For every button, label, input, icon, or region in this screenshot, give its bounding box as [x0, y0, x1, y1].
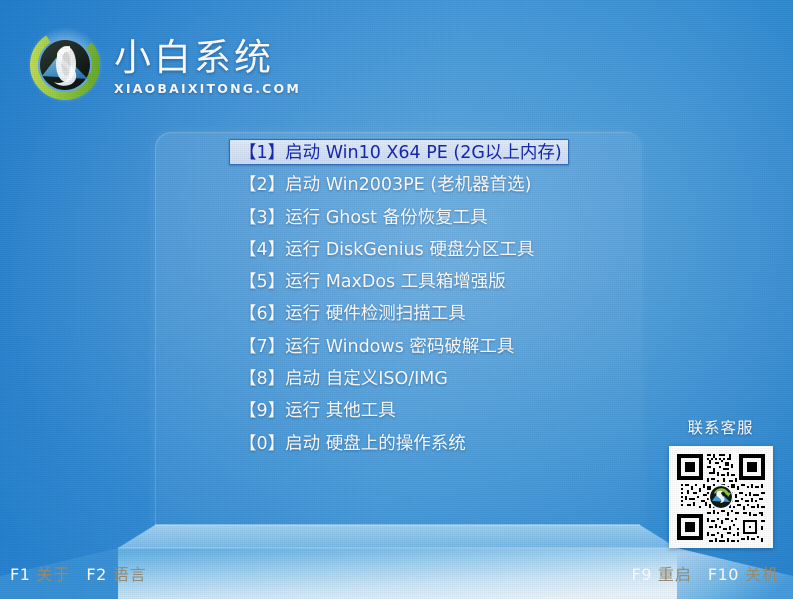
brand-name-en: XIAOBAIXITONG.COM — [114, 81, 301, 96]
brand-name-cn: 小白系统 — [114, 37, 301, 79]
contact-support-block: 联系客服 — [663, 418, 778, 548]
hotkeys-left: F1关于F2语言 — [10, 565, 147, 585]
hotkey-f10-label[interactable]: 关机 — [745, 565, 779, 584]
hotkey-f1-key[interactable]: F1 — [10, 565, 30, 584]
menu-item-7[interactable]: 【7】运行 Windows 密码破解工具 — [229, 333, 569, 359]
brand-logo: 小白系统 XIAOBAIXITONG.COM — [26, 20, 301, 110]
menu-item-0[interactable]: 【0】启动 硬盘上的操作系统 — [229, 430, 569, 456]
hotkey-f1-label[interactable]: 关于 — [36, 565, 70, 584]
menu-item-9[interactable]: 【9】运行 其他工具 — [229, 397, 569, 423]
hotkey-f10-key[interactable]: F10 — [708, 565, 739, 584]
menu-item-4[interactable]: 【4】运行 DiskGenius 硬盘分区工具 — [229, 236, 569, 262]
hotkeys-right: F9重启F10关机 — [632, 565, 779, 585]
menu-item-1[interactable]: 【1】启动 Win10 X64 PE (2G以上内存) — [229, 139, 569, 165]
boot-menu-screen: 小白系统 XIAOBAIXITONG.COM 【1】启动 Win10 X64 P… — [0, 0, 793, 599]
menu-item-8[interactable]: 【8】启动 自定义ISO/IMG — [229, 365, 569, 391]
hotkey-f9-key[interactable]: F9 — [632, 565, 652, 584]
recycle-globe-logo-icon — [26, 26, 104, 104]
hotkey-f2-label[interactable]: 语言 — [113, 565, 147, 584]
boot-menu-list: 【1】启动 Win10 X64 PE (2G以上内存) 【2】启动 Win200… — [229, 139, 569, 462]
hotkey-f9-label[interactable]: 重启 — [658, 565, 692, 584]
menu-item-2[interactable]: 【2】启动 Win2003PE (老机器首选) — [229, 171, 569, 197]
qr-embedded-logo-icon — [710, 486, 732, 508]
contact-support-label: 联系客服 — [663, 418, 778, 438]
menu-item-3[interactable]: 【3】运行 Ghost 备份恢复工具 — [229, 204, 569, 230]
menu-item-5[interactable]: 【5】运行 MaxDos 工具箱增强版 — [229, 268, 569, 294]
qr-code-icon[interactable] — [669, 446, 773, 548]
hotkey-f2-key[interactable]: F2 — [86, 565, 106, 584]
menu-item-6[interactable]: 【6】运行 硬件检测扫描工具 — [229, 300, 569, 326]
